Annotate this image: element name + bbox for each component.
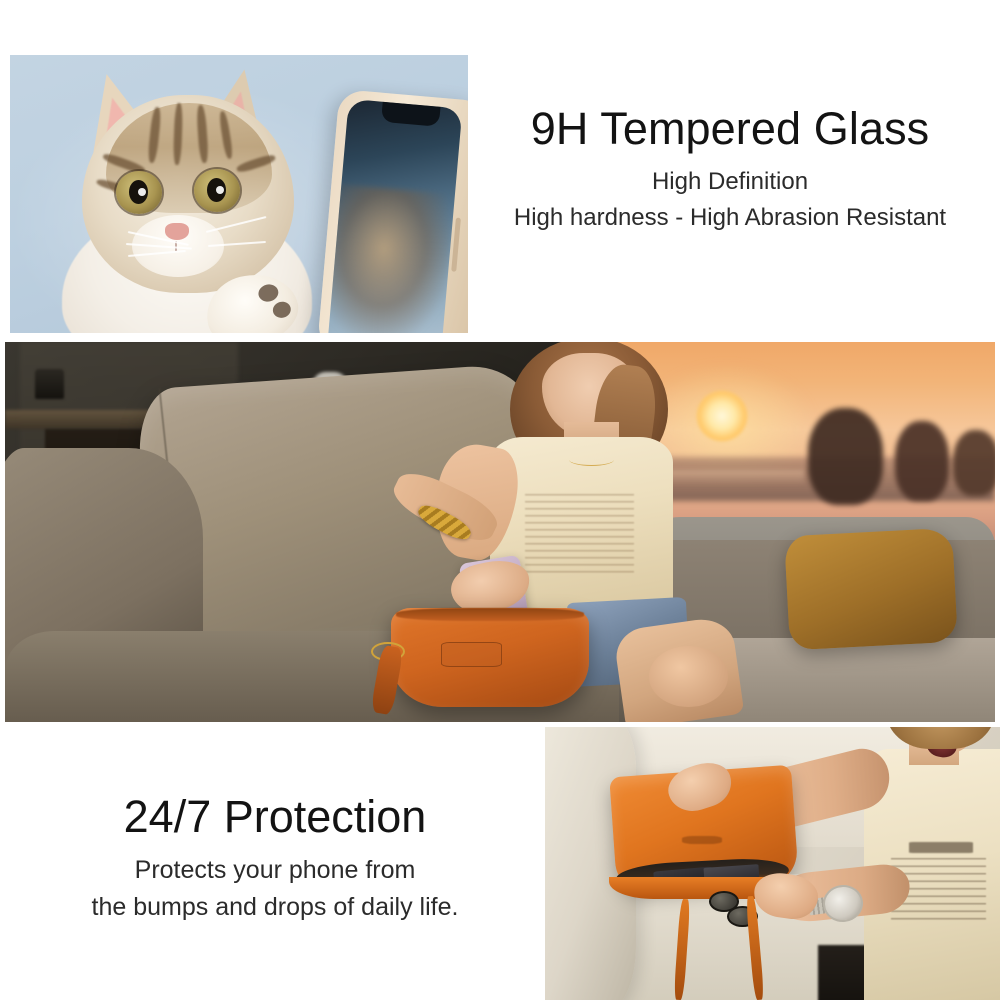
screen-reflection-cat	[326, 184, 455, 333]
shirt-print-title	[909, 842, 973, 853]
tree-silhouette	[895, 421, 949, 500]
cat-pupil	[129, 180, 148, 204]
feature-text-tempered-glass: 9H Tempered Glass High Definition High h…	[470, 104, 990, 232]
handbag-zipper	[396, 608, 584, 621]
subtext-bumps-drops: the bumps and drops of daily life.	[40, 893, 510, 922]
decor-jar	[35, 369, 65, 399]
headline-protection: 24/7 Protection	[40, 792, 510, 842]
eye-glint	[216, 186, 224, 194]
eye-glint	[138, 188, 146, 196]
image-woman-sofa-sunset	[5, 342, 995, 722]
image-cat-with-phone	[10, 55, 468, 333]
image-woman-bag-reaction	[545, 727, 1000, 1000]
tree-silhouette	[808, 408, 883, 505]
cat-nose-icon	[165, 223, 189, 240]
ochre-pillow	[784, 528, 958, 651]
headline-tempered-glass: 9H Tempered Glass	[470, 104, 990, 154]
phone-screen	[326, 99, 462, 333]
cat-pupil	[207, 178, 226, 202]
phone-side-button	[451, 218, 461, 272]
tank-top-print	[525, 494, 634, 578]
cat-eye-right	[194, 169, 240, 212]
subtext-protects-phone: Protects your phone from	[40, 856, 510, 885]
feature-text-protection: 24/7 Protection Protects your phone from…	[40, 792, 510, 922]
phone-notch	[381, 102, 441, 127]
sun-icon	[696, 390, 748, 442]
woman-knee	[649, 646, 728, 707]
tree-silhouette	[953, 430, 995, 496]
subtext-high-definition: High Definition	[470, 168, 990, 196]
cat-eye-left	[116, 171, 162, 214]
handbag-logo	[682, 836, 723, 844]
handbag-logo-tag	[441, 642, 502, 667]
subtext-high-hardness: High hardness - High Abrasion Resistant	[470, 204, 990, 232]
cat-toe	[257, 282, 281, 303]
phone-device	[317, 89, 468, 333]
product-infographic: 9H Tempered Glass High Definition High h…	[0, 0, 1000, 1000]
cat-toe	[271, 300, 292, 320]
